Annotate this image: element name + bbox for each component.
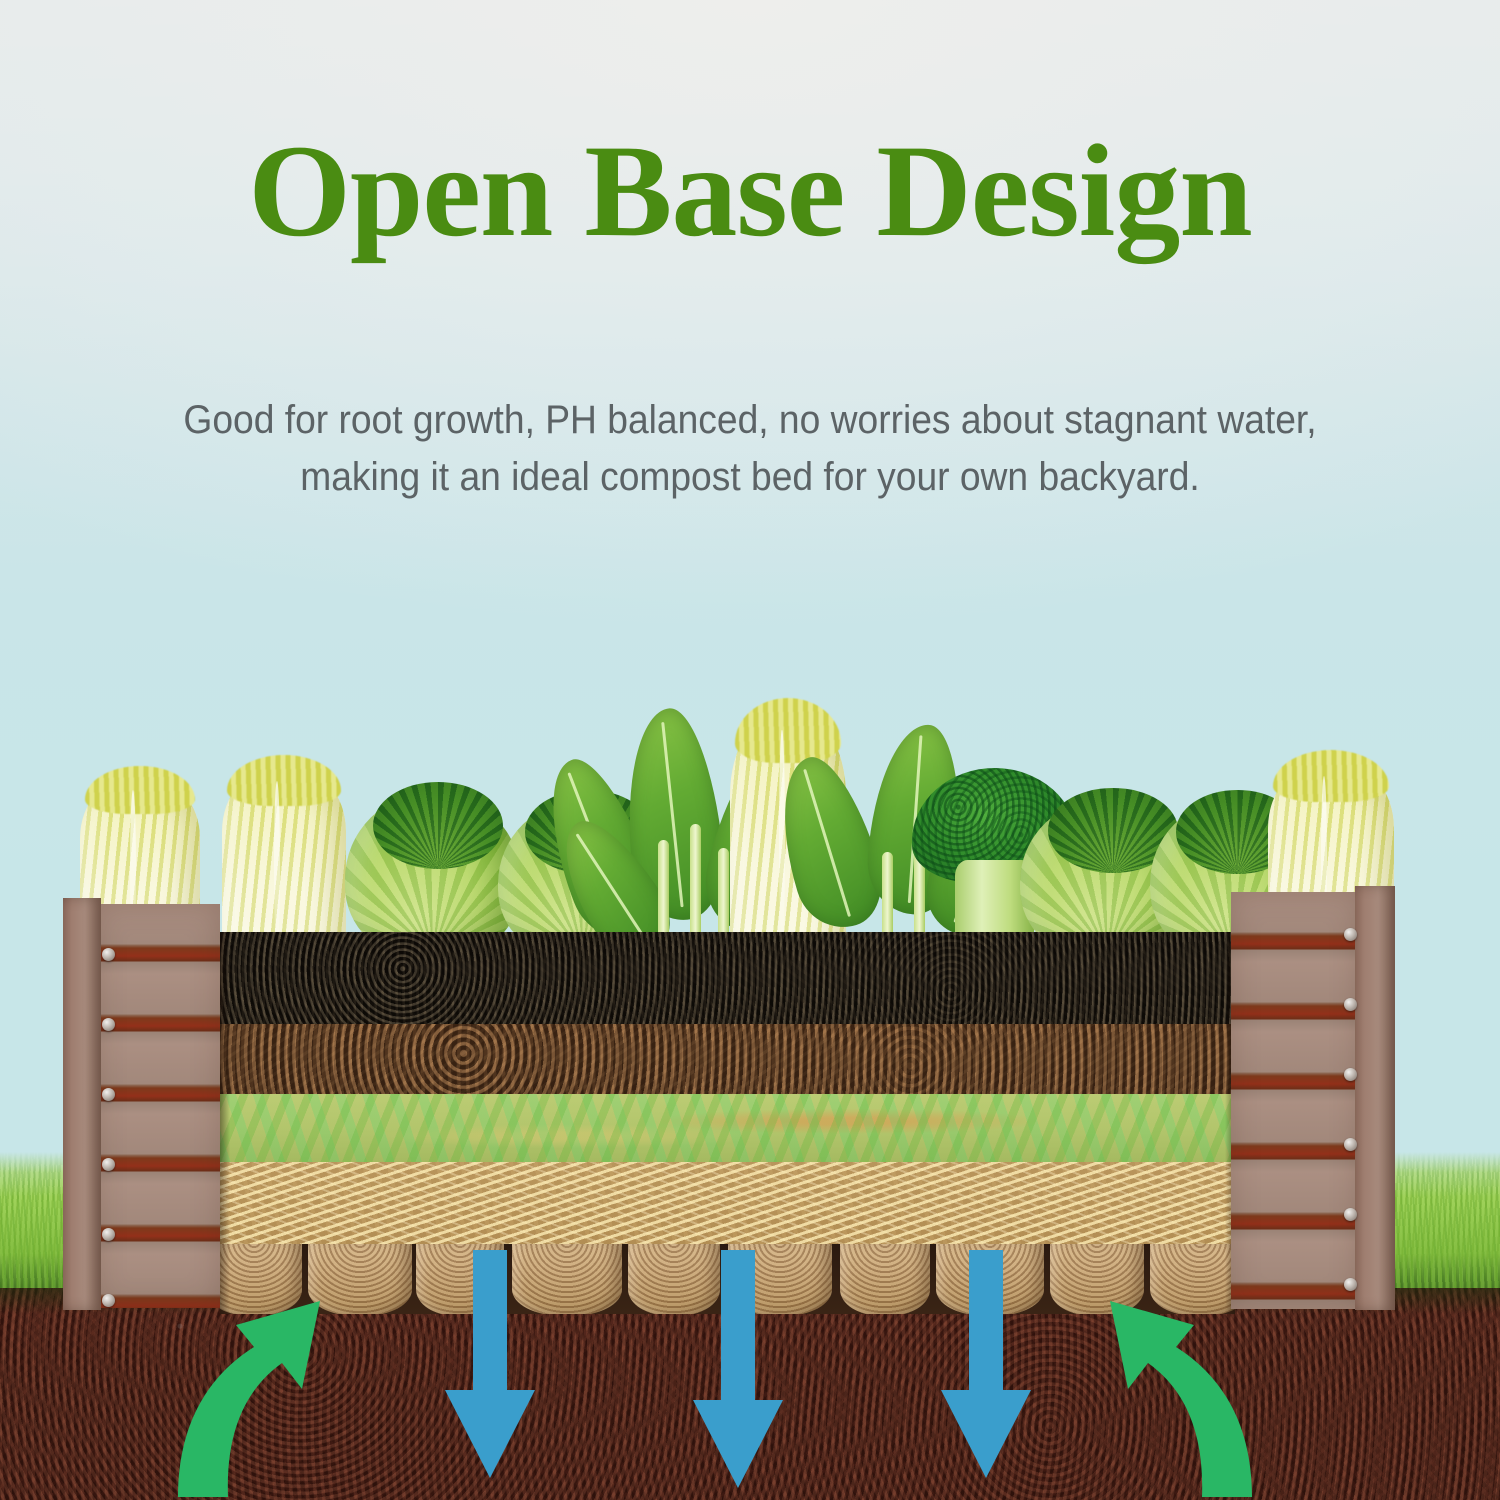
infographic-canvas: Open Base Design Good for root growth, P… [0,0,1500,1500]
panel-screw [102,1088,115,1101]
compost-cross-section [220,932,1235,1250]
panel-screw [102,1158,115,1171]
root-growth-arrow [1090,1285,1260,1500]
kitchen-scraps-layer [220,1094,1235,1162]
drainage-arrow [941,1250,1037,1480]
cross-section-edge-shadow-left [220,932,230,1314]
panel-screw [1344,928,1357,941]
panel-screw [1344,1068,1357,1081]
screw-column-left [102,904,128,1308]
panel-screw [1344,1278,1357,1291]
corner-post-left [63,898,101,1310]
compost-mulch-layer [220,1024,1235,1094]
metal-panel-right [1231,892,1359,1309]
panel-screw [1344,1208,1357,1221]
panel-screw [102,948,115,961]
panel-screw [1344,1138,1357,1151]
panel-screw [102,1228,115,1241]
panel-screw [102,1018,115,1031]
panel-screw [1344,998,1357,1011]
topsoil-layer [220,932,1235,1024]
straw-layer [220,1162,1235,1246]
panel-screw [102,1294,115,1307]
log-end [840,1244,930,1314]
drainage-arrow [445,1250,541,1480]
root-growth-arrow [170,1285,340,1500]
drainage-arrow [693,1250,789,1490]
screw-column-right [1344,892,1370,1309]
